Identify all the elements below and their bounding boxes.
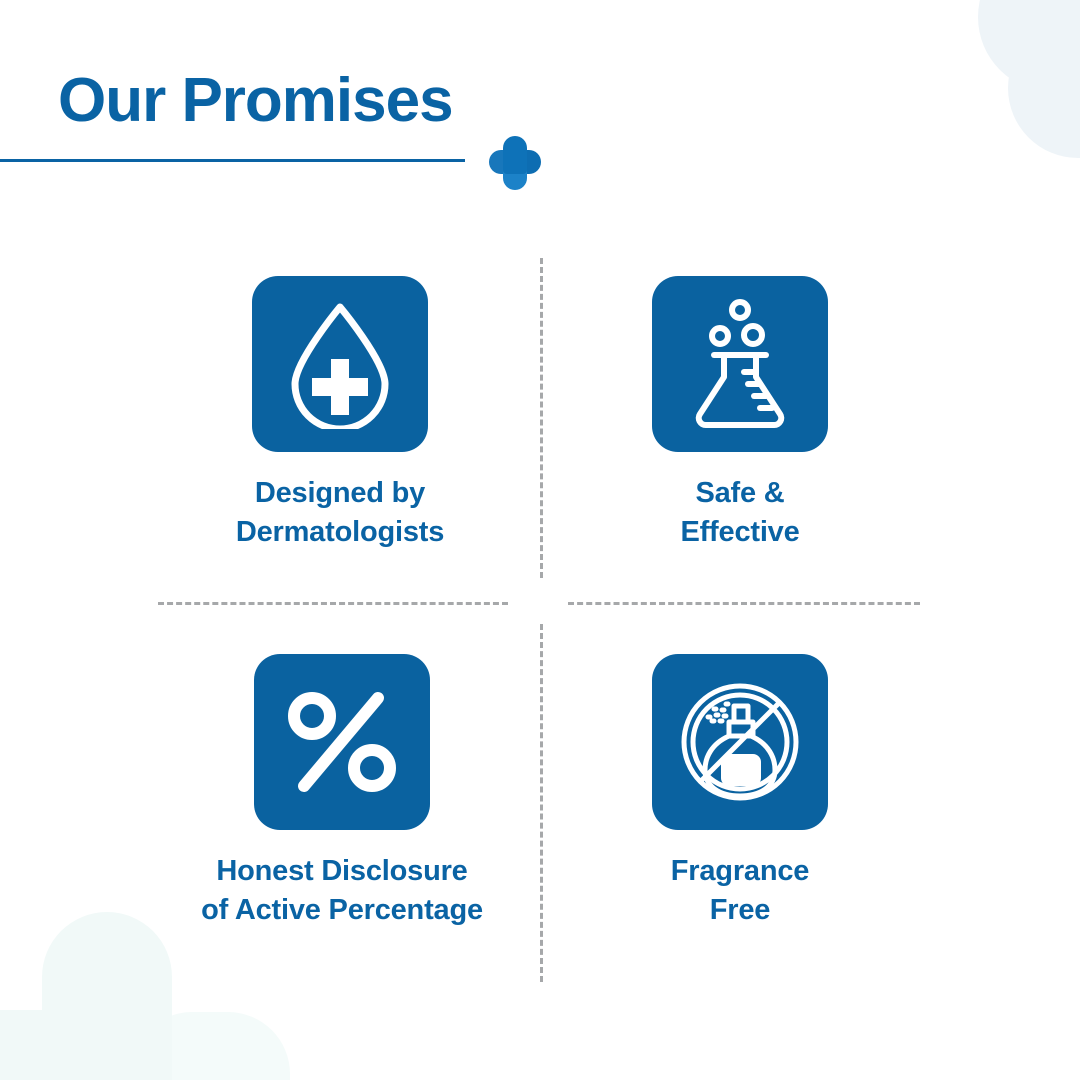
promises-infographic: Our Promises Designed by Dermatologists <box>0 0 1080 1080</box>
no-fragrance-spray-icon <box>674 676 806 808</box>
promise-icon-tile <box>252 276 428 452</box>
promise-label: Honest Disclosure of Active Percentage <box>112 852 572 929</box>
deco-blob-top-right-a <box>978 0 1080 92</box>
promise-icon-tile <box>652 654 828 830</box>
promise-item-designed-by-dermatologists: Designed by Dermatologists <box>110 276 570 551</box>
lab-flask-icon <box>680 298 800 430</box>
promise-label: Designed by Dermatologists <box>110 474 570 551</box>
promise-item-safe-and-effective: Safe & Effective <box>510 276 970 551</box>
promise-label: Fragrance Free <box>510 852 970 929</box>
deco-blob-top-right-square <box>1020 0 1080 120</box>
header: Our Promises <box>0 70 560 132</box>
title-underline <box>0 159 465 162</box>
plus-cross-mark-icon <box>489 136 541 190</box>
promise-item-fragrance-free: Fragrance Free <box>510 654 970 929</box>
water-droplet-plus-icon <box>281 299 399 429</box>
promise-item-honest-disclosure: Honest Disclosure of Active Percentage <box>112 654 572 929</box>
percent-icon <box>286 690 398 794</box>
cross-lobe-core <box>503 150 527 174</box>
promise-icon-tile <box>652 276 828 452</box>
page-title: Our Promises <box>0 70 560 132</box>
promise-label: Safe & Effective <box>510 474 970 551</box>
deco-blob-bottom-left-c <box>130 1012 290 1080</box>
deco-blob-top-right-b <box>1008 18 1080 158</box>
deco-blob-bottom-left-b <box>0 1010 170 1080</box>
promises-grid: Designed by Dermatologists <box>0 258 1080 998</box>
promise-icon-tile <box>254 654 430 830</box>
